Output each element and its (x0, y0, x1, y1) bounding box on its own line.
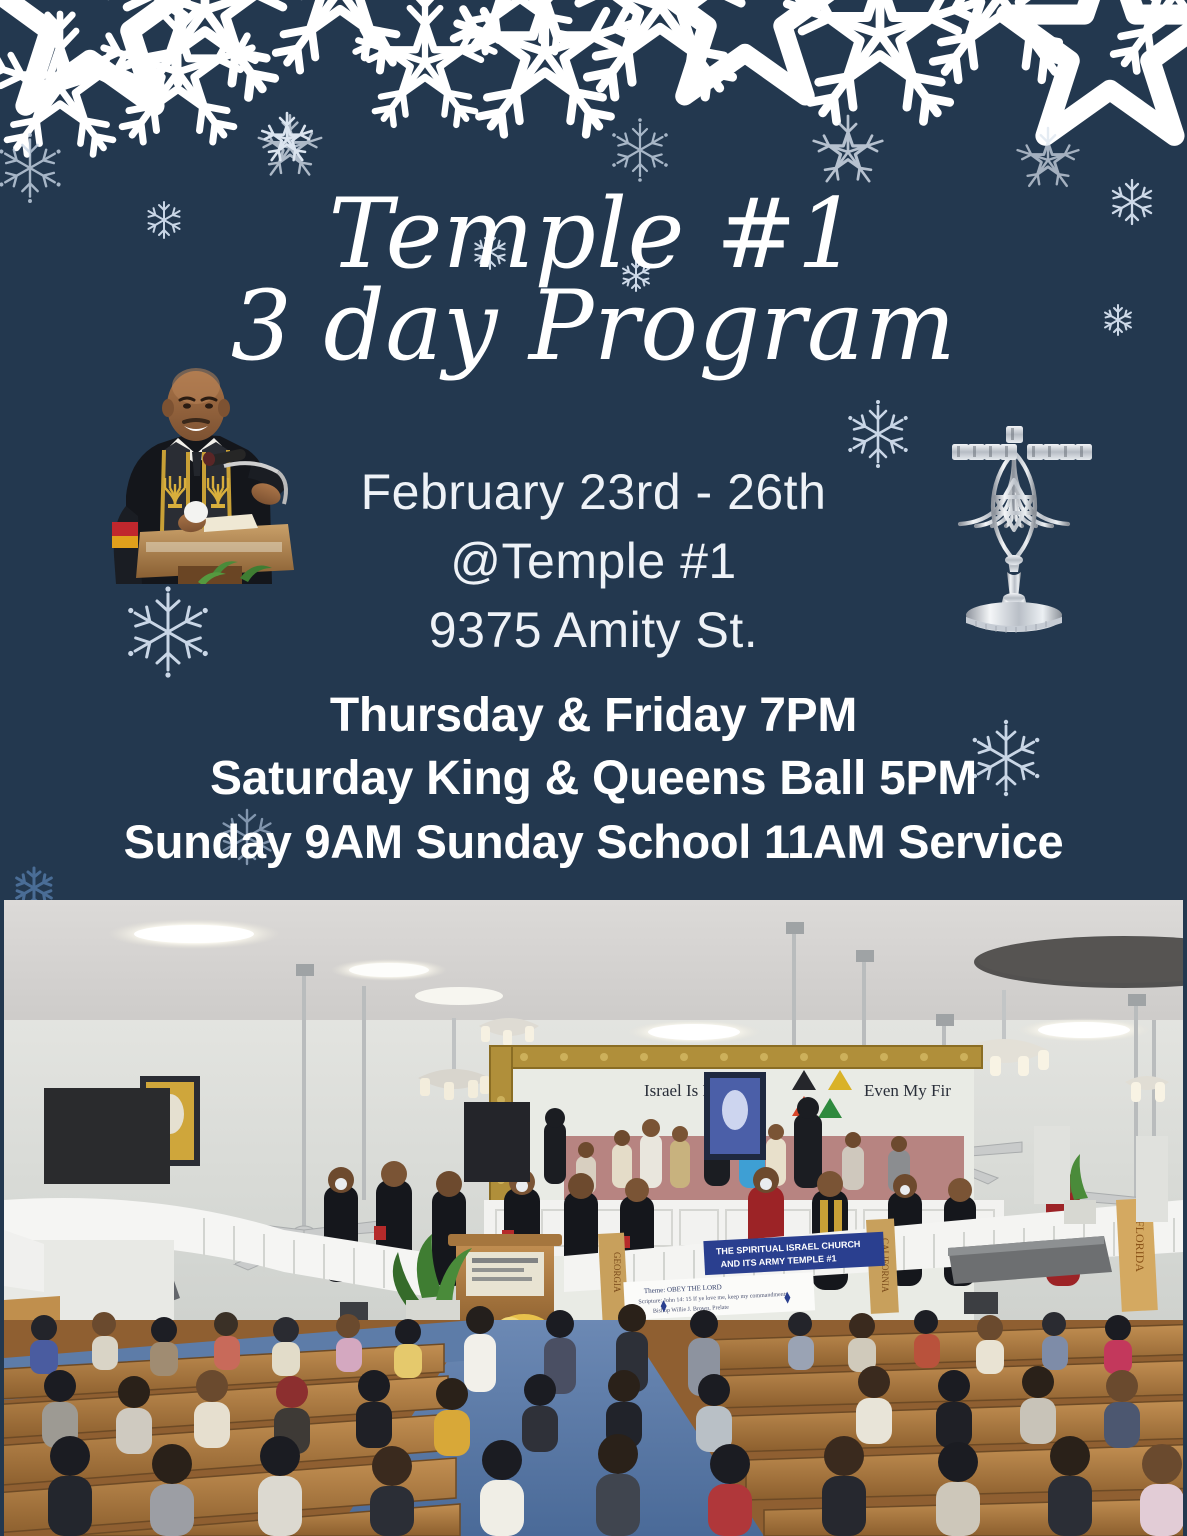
svg-text:FLORIDA: FLORIDA (1133, 1220, 1147, 1272)
event-venue: @Temple #1 (0, 527, 1187, 596)
schedule-line-2: Saturday King & Queens Ball 5PM (0, 747, 1187, 810)
flyer-poster: Temple #1 3 day Program February 23rd - … (0, 0, 1187, 1536)
schedule-line-3: Sunday 9AM Sunday School 11AM Service (0, 811, 1187, 873)
banner-label: GEORGIA (612, 1252, 622, 1293)
headline-line-2: 3 day Program (0, 278, 1187, 376)
snowflake-icon (256, 108, 318, 175)
event-address: 9375 Amity St. (0, 596, 1187, 665)
event-details: February 23rd - 26th @Temple #1 9375 Ami… (0, 458, 1187, 665)
event-schedule: Thursday & Friday 7PM Saturday King & Qu… (0, 684, 1187, 873)
church-interior-photo: Israel Is My Son Even My Fir (4, 900, 1183, 1536)
event-dates: February 23rd - 26th (0, 458, 1187, 527)
schedule-line-1: Thursday & Friday 7PM (0, 684, 1187, 747)
page-title: Temple #1 3 day Program (0, 186, 1187, 376)
svg-text:Even My Fir: Even My Fir (864, 1081, 951, 1100)
